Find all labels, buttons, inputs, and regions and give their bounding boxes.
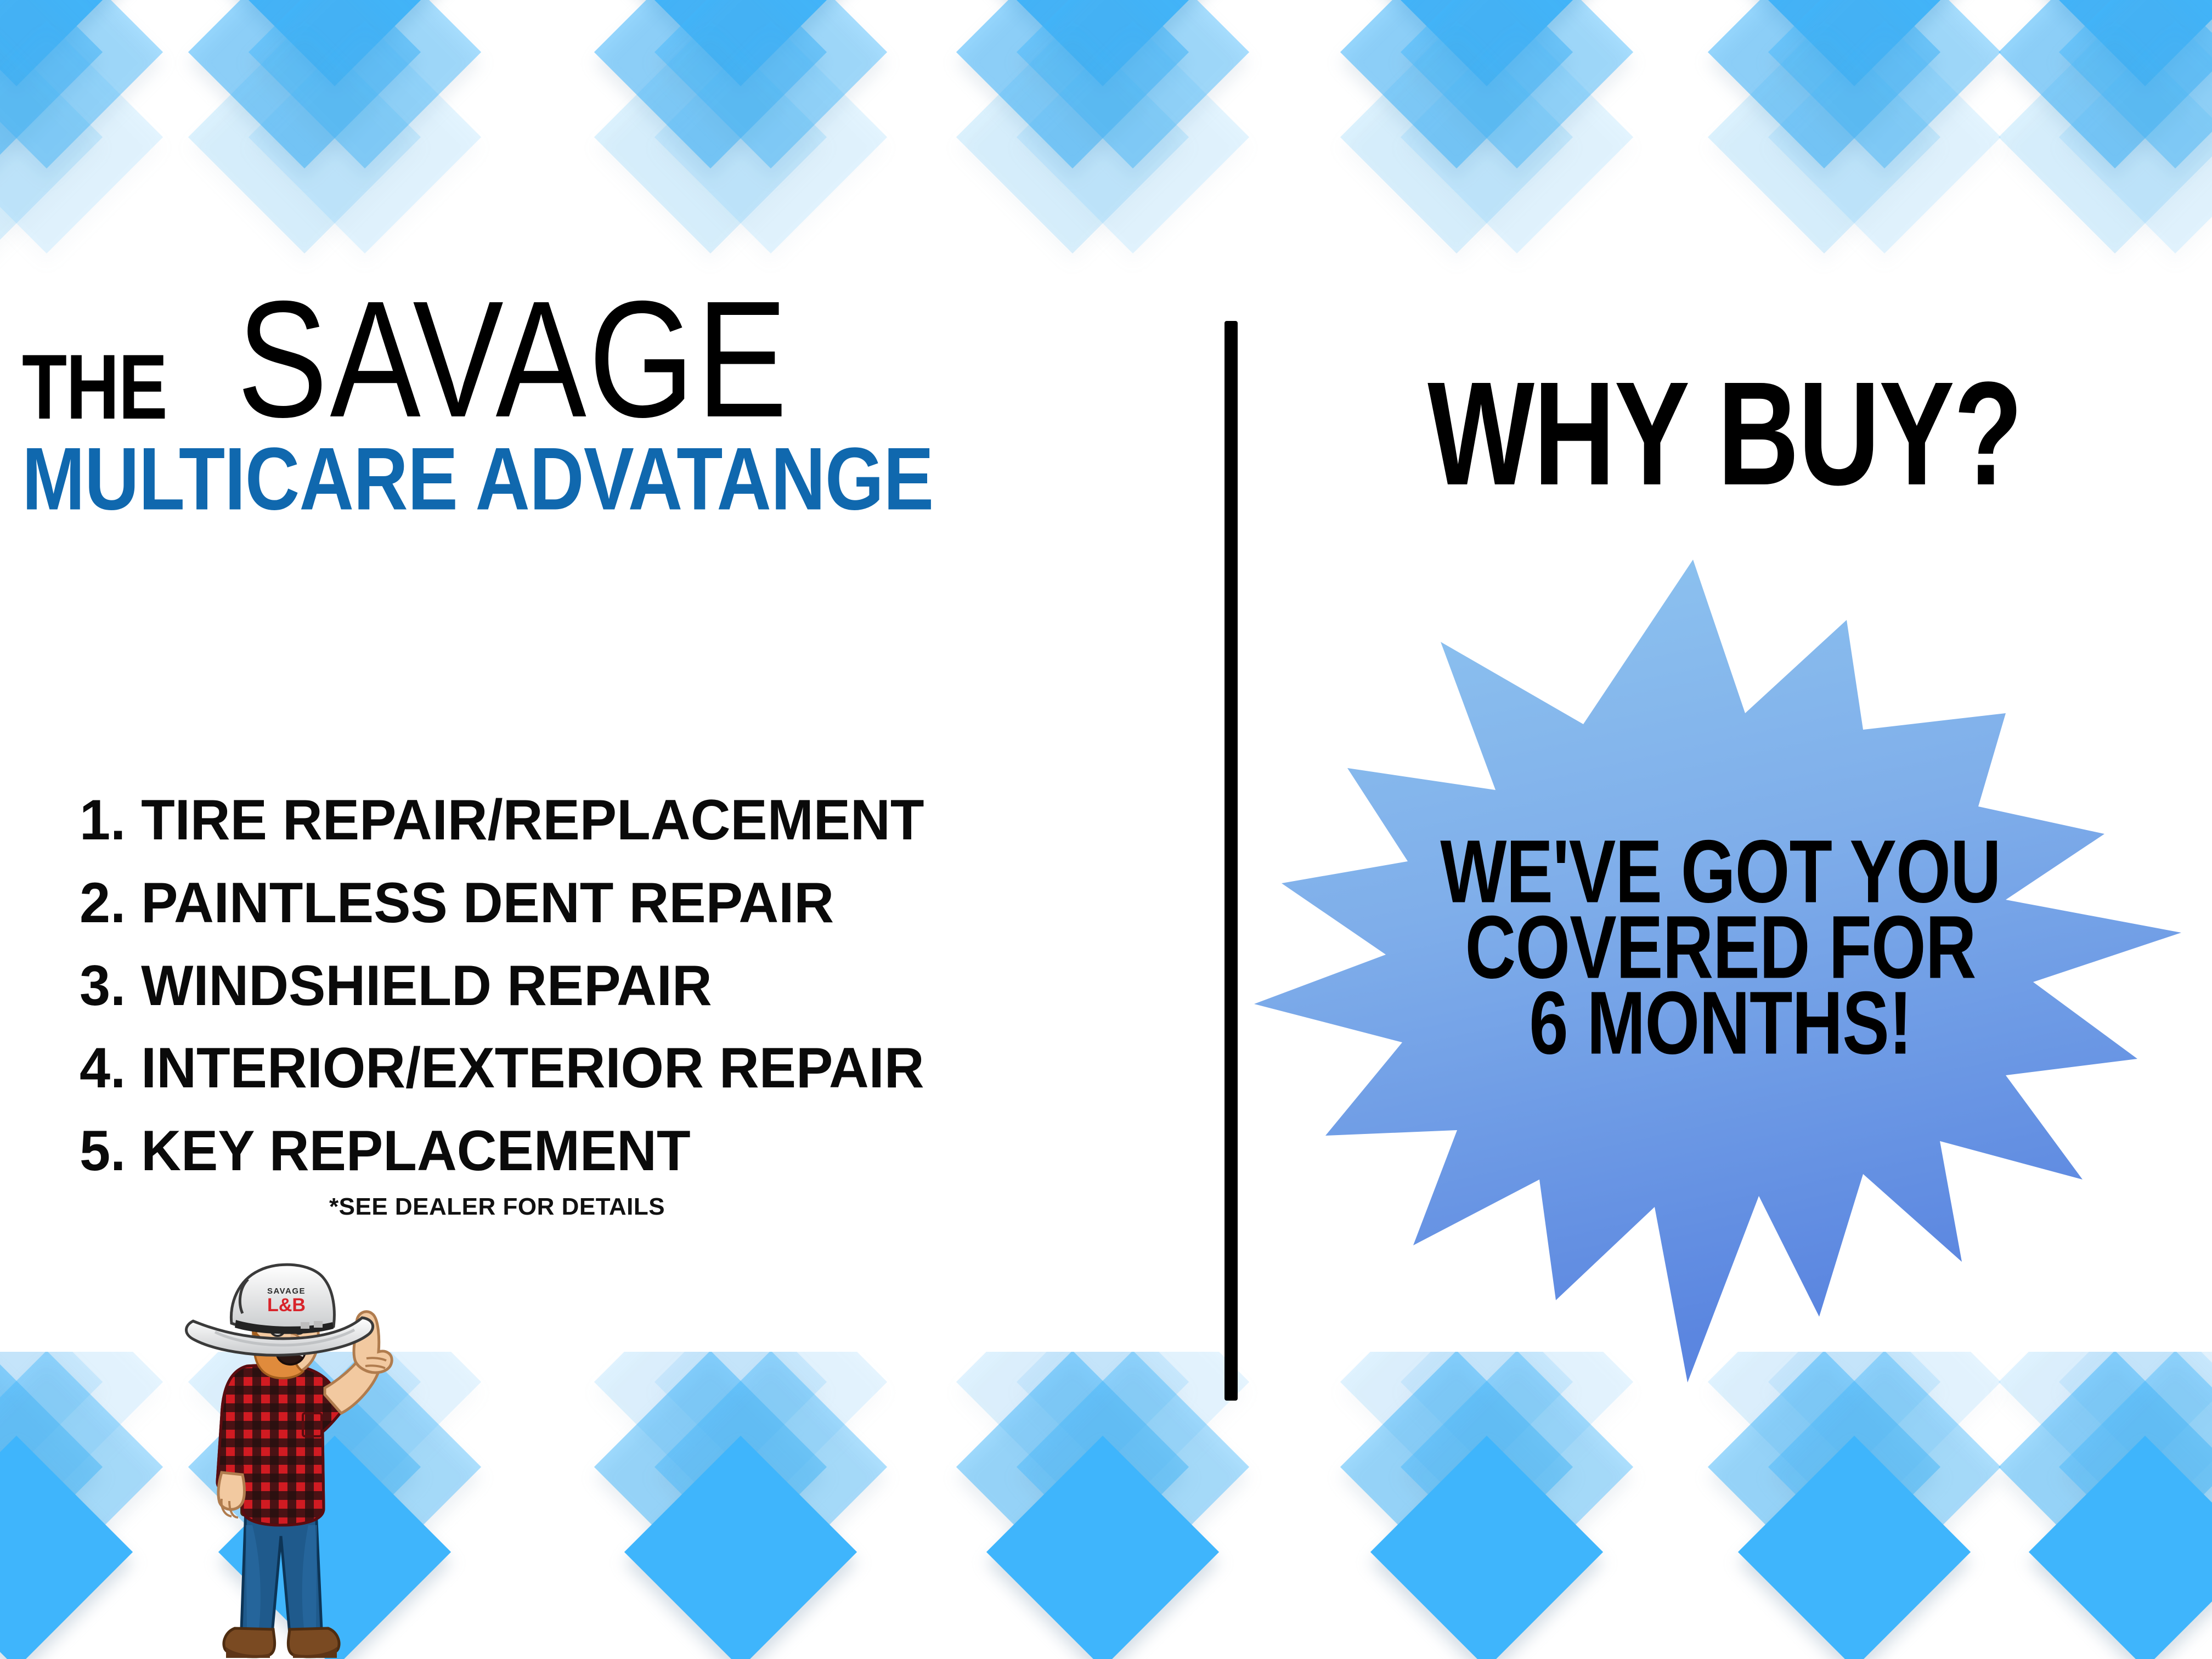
headline-subtitle: MULTICARE ADVATANGE <box>22 439 1072 518</box>
headline-word-the: THE <box>22 349 167 425</box>
page-title: WHY BUY? <box>1238 373 2212 494</box>
right-panel: WHY BUY? WE'VE GOT YOU COVERED FOR 6 MON… <box>1238 0 2212 1659</box>
why-buy-text: WHY BUY? <box>1427 366 2022 501</box>
headline-block: THE SAVAGE MULTICARE ADVATANGE <box>22 315 1163 512</box>
list-item: 1. TIRE REPAIR/REPLACEMENT <box>80 779 1144 862</box>
starburst-message: WE'VE GOT YOU COVERED FOR 6 MONTHS! <box>1342 834 2099 1061</box>
left-panel: THE SAVAGE MULTICARE ADVATANGE 1. TIRE R… <box>0 0 1223 1659</box>
burst-line-3: 6 MONTHS! <box>1368 979 2072 1068</box>
vertical-divider <box>1224 321 1238 1401</box>
headline-word-savage: SAVAGE <box>237 292 789 425</box>
headline-line-1: THE SAVAGE <box>22 315 1163 425</box>
list-item: 2. PAINTLESS DENT REPAIR <box>80 862 1144 945</box>
list-item: 5. KEY REPLACEMENT <box>80 1110 1144 1193</box>
mascot-illustration: SAVAGE L&B <box>165 1251 395 1659</box>
service-list: 1. TIRE REPAIR/REPLACEMENT 2. PAINTLESS … <box>80 779 1177 1193</box>
mascot-hat-brand-main: L&B <box>267 1295 306 1316</box>
poster-canvas: THE SAVAGE MULTICARE ADVATANGE 1. TIRE R… <box>0 0 2212 1659</box>
list-item: 4. INTERIOR/EXTERIOR REPAIR <box>80 1027 1144 1110</box>
disclaimer-footnote: *SEE DEALER FOR DETAILS <box>329 1193 665 1221</box>
list-item: 3. WINDSHIELD REPAIR <box>80 945 1144 1028</box>
starburst-callout: WE'VE GOT YOU COVERED FOR 6 MONTHS! <box>1249 549 2181 1404</box>
